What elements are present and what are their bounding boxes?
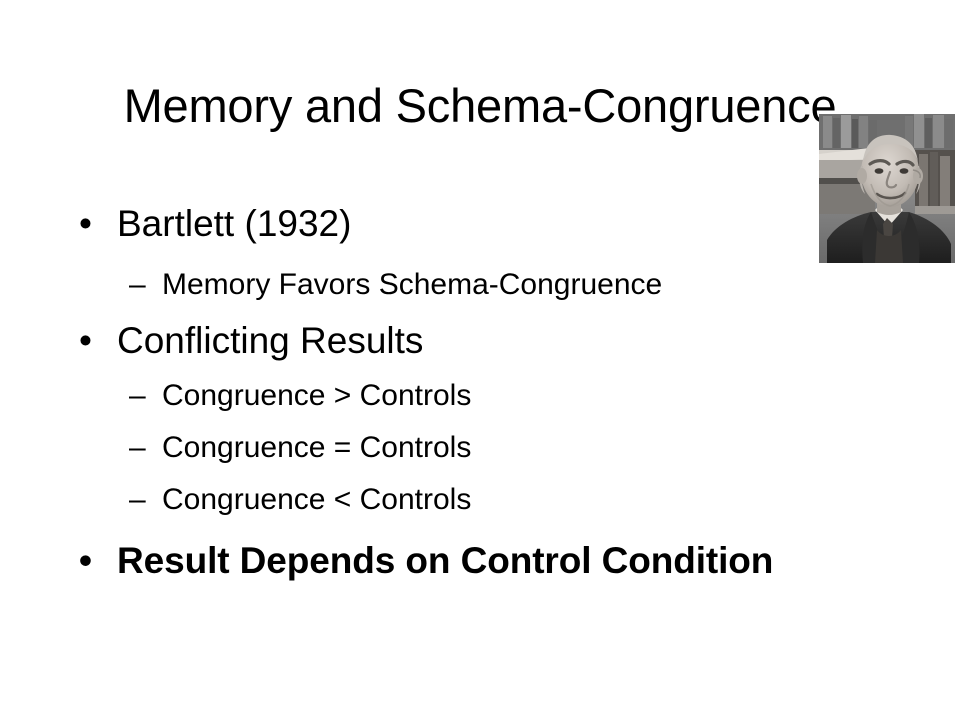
bullet-text: Result Depends on Control Condition xyxy=(117,540,773,581)
presentation-slide: Memory and Schema-Congruence xyxy=(0,0,960,720)
outline-body: • Bartlett (1932) – Memory Favors Schema… xyxy=(0,205,960,579)
spacer xyxy=(0,411,960,433)
bullet-dash-icon: – xyxy=(129,381,155,411)
sub-bullet-text: Memory Favors Schema-Congruence xyxy=(162,268,662,301)
bullet-text: Bartlett (1932) xyxy=(117,203,351,244)
bullet-dash-icon: – xyxy=(129,270,155,300)
bullet-dot-icon: • xyxy=(79,205,101,242)
bullet-text: Conflicting Results xyxy=(117,320,423,361)
sub-bullet-item-congruence-less: – Congruence < Controls xyxy=(0,485,960,515)
page-title: Memory and Schema-Congruence xyxy=(0,81,960,130)
sub-bullet-text: Congruence < Controls xyxy=(162,483,471,516)
spacer xyxy=(0,300,960,322)
bullet-item-conflicting-results: • Conflicting Results xyxy=(0,322,960,359)
spacer xyxy=(0,515,960,542)
bullet-item-result-depends: • Result Depends on Control Condition xyxy=(0,542,960,579)
bullet-dot-icon: • xyxy=(79,322,101,359)
spacer xyxy=(0,242,960,270)
sub-bullet-text: Congruence > Controls xyxy=(162,379,471,412)
spacer xyxy=(0,463,960,485)
bullet-item-bartlett: • Bartlett (1932) xyxy=(0,205,960,242)
sub-bullet-item-congruence-greater: – Congruence > Controls xyxy=(0,381,960,411)
bullet-dash-icon: – xyxy=(129,433,155,463)
sub-bullet-item-memory-favors: – Memory Favors Schema-Congruence xyxy=(0,270,960,300)
sub-bullet-item-congruence-equal: – Congruence = Controls xyxy=(0,433,960,463)
bullet-dot-icon: • xyxy=(79,542,101,579)
spacer xyxy=(0,359,960,381)
bullet-dash-icon: – xyxy=(129,485,155,515)
sub-bullet-text: Congruence = Controls xyxy=(162,431,471,464)
